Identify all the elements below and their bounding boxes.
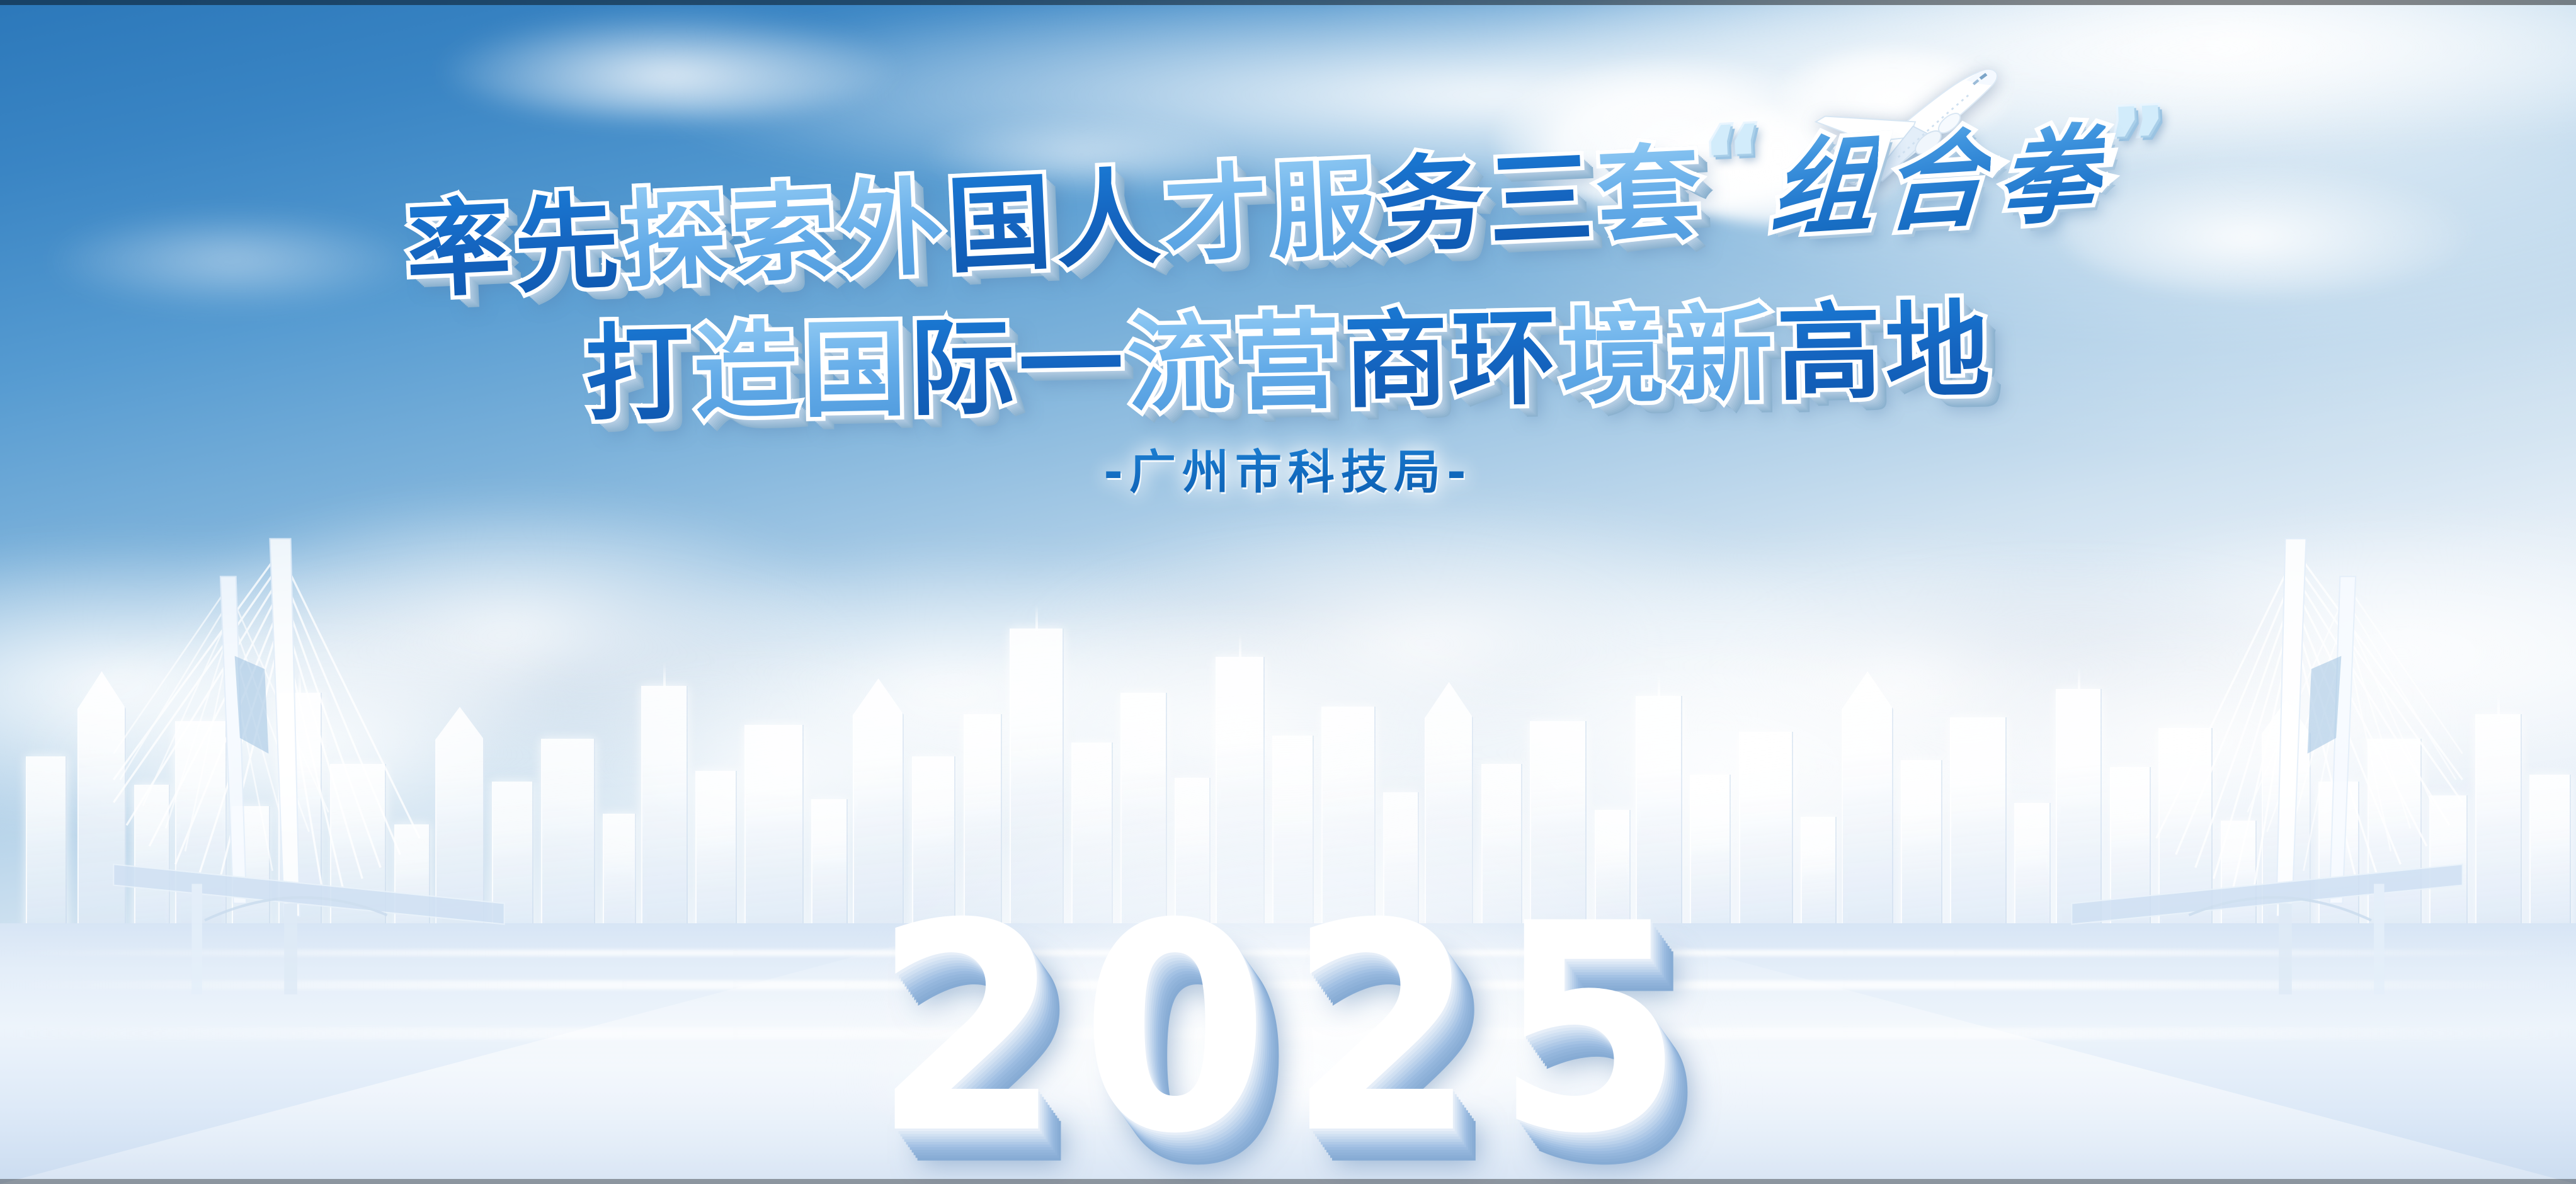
top-edge-band <box>0 0 2576 5</box>
airplane-icon <box>1791 50 2048 203</box>
subtitle-organization: -广州市科技局- <box>0 435 2576 502</box>
cloud-f <box>2061 166 2473 296</box>
cloud-d <box>438 12 901 118</box>
cloud-g <box>927 118 1236 190</box>
cloud-e <box>52 213 413 307</box>
poster-canvas: 率先探索外国人才服务三套“组合拳” 打造国际一流营商环境新高地 -广州市科技局-… <box>0 0 2576 1184</box>
year-label: 2025 <box>0 886 2576 1173</box>
bottom-edge-band <box>0 1179 2576 1184</box>
